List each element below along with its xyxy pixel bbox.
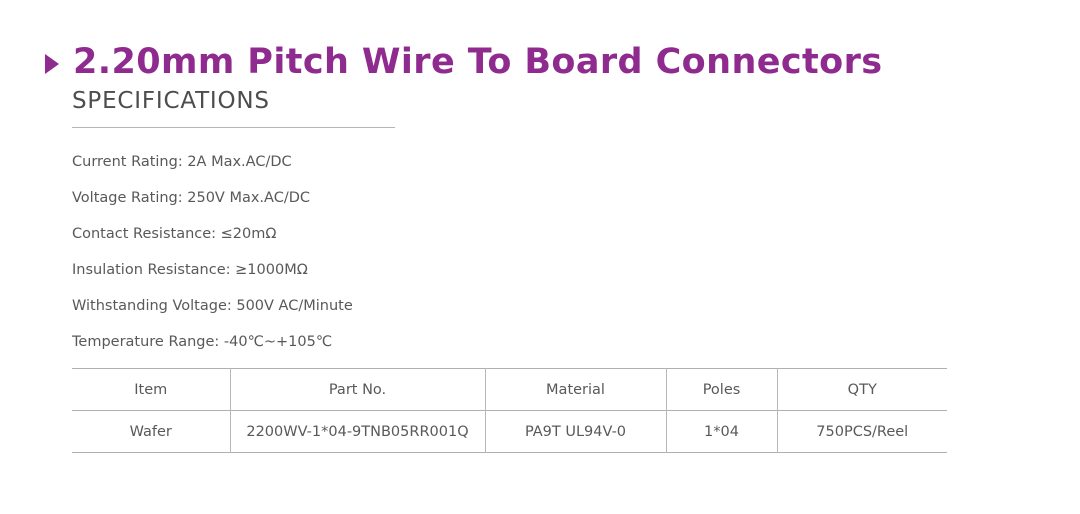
specifications-list: Current Rating: 2A Max.AC/DC Voltage Rat…	[72, 144, 952, 360]
spec-item: Voltage Rating: 250V Max.AC/DC	[72, 180, 952, 216]
table-body: Wafer 2200WV-1*04-9TNB05RR001Q PA9T UL94…	[72, 411, 947, 453]
triangle-right-icon	[45, 54, 59, 74]
column-header-material: Material	[485, 369, 666, 411]
table-header-row: Item Part No. Material Poles QTY	[72, 369, 947, 411]
cell-poles: 1*04	[666, 411, 777, 453]
specifications-section: SPECIFICATIONS Current Rating: 2A Max.AC…	[72, 88, 952, 360]
spec-item: Contact Resistance: ≤20mΩ	[72, 216, 952, 252]
specifications-heading: SPECIFICATIONS	[72, 88, 952, 116]
column-header-qty: QTY	[777, 369, 947, 411]
cell-item: Wafer	[72, 411, 230, 453]
product-table: Item Part No. Material Poles QTY Wafer 2…	[72, 368, 947, 453]
spec-item: Current Rating: 2A Max.AC/DC	[72, 144, 952, 180]
product-table-container: Item Part No. Material Poles QTY Wafer 2…	[72, 368, 947, 453]
column-header-part-no: Part No.	[230, 369, 485, 411]
spec-item: Withstanding Voltage: 500V AC/Minute	[72, 288, 952, 324]
cell-part-no: 2200WV-1*04-9TNB05RR001Q	[230, 411, 485, 453]
page-title: 2.20mm Pitch Wire To Board Connectors	[73, 45, 883, 80]
spec-item: Insulation Resistance: ≥1000MΩ	[72, 252, 952, 288]
column-header-item: Item	[72, 369, 230, 411]
heading-divider	[72, 127, 395, 128]
cell-material: PA9T UL94V-0	[485, 411, 666, 453]
spec-item: Temperature Range: -40℃~+105℃	[72, 324, 952, 360]
table-header: Item Part No. Material Poles QTY	[72, 369, 947, 411]
table-row: Wafer 2200WV-1*04-9TNB05RR001Q PA9T UL94…	[72, 411, 947, 453]
cell-qty: 750PCS/Reel	[777, 411, 947, 453]
column-header-poles: Poles	[666, 369, 777, 411]
